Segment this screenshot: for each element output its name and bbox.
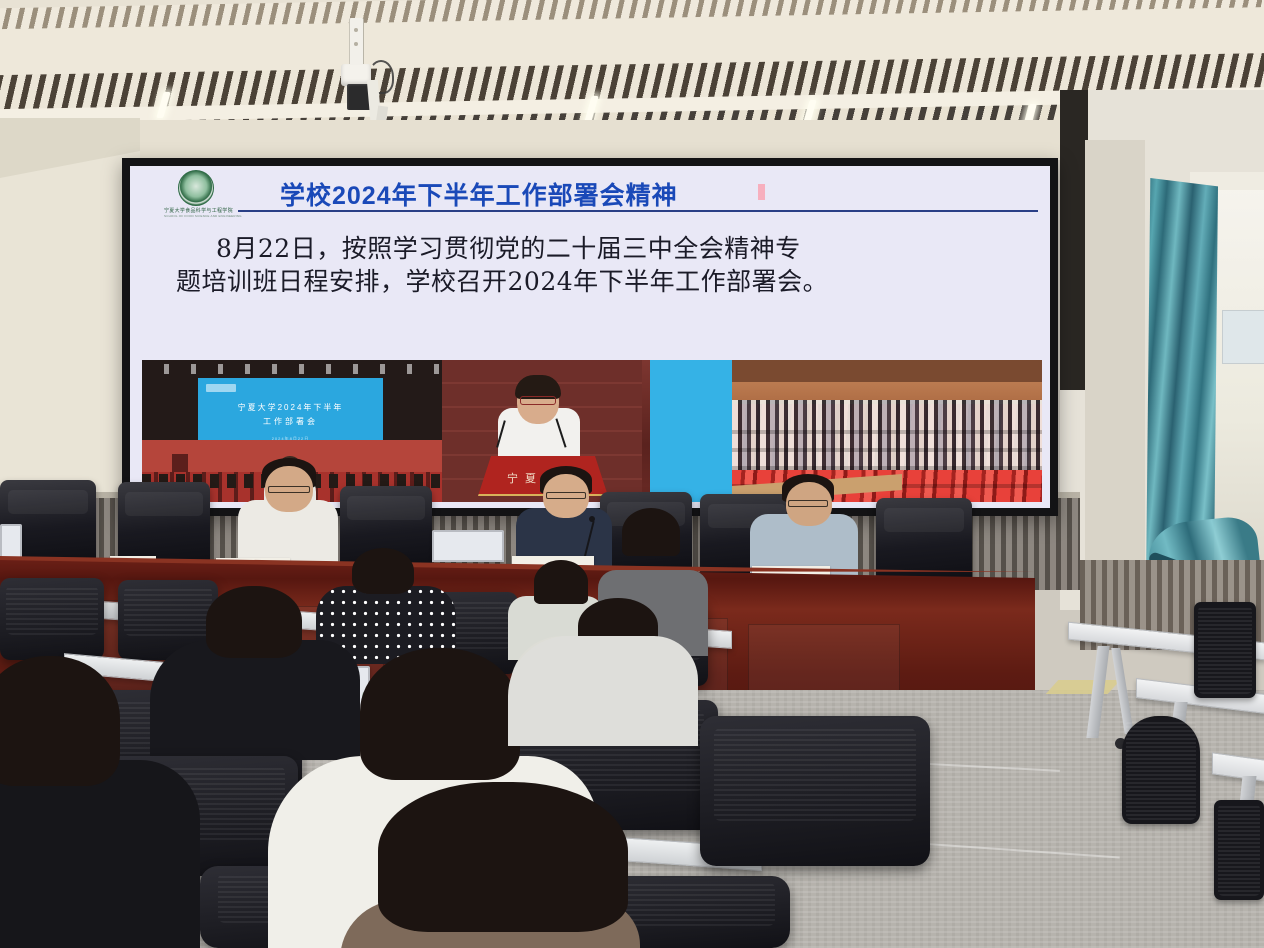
person-hair [378, 782, 628, 932]
person-hair [622, 508, 680, 556]
person-center-laptop[interactable] [432, 530, 504, 562]
slide-body-line-1: 8月22日，按照学习贯彻党的二十届三中全会精神专 [216, 234, 801, 263]
speaker-glasses-icon [520, 396, 556, 405]
person-hair [534, 560, 588, 604]
slide-title: 学校2024年下半年工作部署会精神 [280, 176, 678, 212]
person-hair [206, 586, 302, 658]
logo-en-text: SCHOOL OF FOOD SCIENCE AND ENGINEERING [164, 214, 228, 218]
table-microphone-head [589, 516, 595, 522]
person-shirt [508, 636, 698, 746]
person-hair [360, 648, 520, 780]
person-center-glasses-icon [546, 492, 586, 499]
photo3-upper-wall [732, 360, 1042, 382]
stage-screen-line-1: 宁夏大学2024年下半年 [198, 402, 383, 413]
audience-chair[interactable] [700, 716, 930, 866]
window-glass-panel [1222, 310, 1264, 364]
side-chair[interactable] [1214, 800, 1264, 900]
right-wall-dark-edge [1060, 90, 1088, 390]
slide-body-line-2: 题培训班日程安排，学校召开2024年下半年工作部署会。 [176, 267, 828, 296]
person-shirt [150, 640, 360, 760]
logo-emblem-icon [178, 170, 214, 206]
cursor-mark [758, 184, 765, 200]
projector-mount-pole [349, 18, 364, 70]
person-left-glasses-icon [268, 486, 310, 493]
stage-screen-logo-icon [206, 384, 236, 392]
stage-ceiling-lights [142, 364, 442, 374]
logo-cn-text: 宁夏大学食品科学与工程学院 [164, 207, 228, 214]
meeting-room-photo: 吊装投影机 宁夏大学食品科学与工程学院 SCHOOL OF FOOD SCIEN… [0, 0, 1264, 948]
side-chair[interactable] [1194, 602, 1256, 698]
side-chair[interactable] [1122, 716, 1200, 824]
front-wall [120, 120, 1080, 160]
person-hair [352, 548, 414, 594]
stage-screen-line-2: 工作部署会 [198, 416, 383, 427]
audience-chair[interactable] [0, 578, 104, 660]
photo2-blue-screen-edge [650, 360, 732, 502]
person-shirt [0, 760, 200, 948]
right-wall-shadow [1085, 140, 1145, 580]
left-wall [0, 118, 140, 538]
person-hair [0, 656, 120, 786]
audience-seating-photo [732, 360, 1042, 502]
slide-header: 宁夏大学食品科学与工程学院 SCHOOL OF FOOD SCIENCE AND… [130, 166, 1050, 216]
slide-body-text: 8月22日，按照学习贯彻党的二十届三中全会精神专 题培训班日程安排，学校召开20… [176, 232, 1006, 298]
ningxia-university-food-science-logo: 宁夏大学食品科学与工程学院 SCHOOL OF FOOD SCIENCE AND… [164, 170, 228, 214]
floor-cable-cover [1046, 680, 1121, 694]
slide-title-underline [238, 210, 1038, 212]
person-right-glasses-icon [788, 500, 828, 507]
presentation-screen: 宁夏大学食品科学与工程学院 SCHOOL OF FOOD SCIENCE AND… [130, 166, 1050, 508]
